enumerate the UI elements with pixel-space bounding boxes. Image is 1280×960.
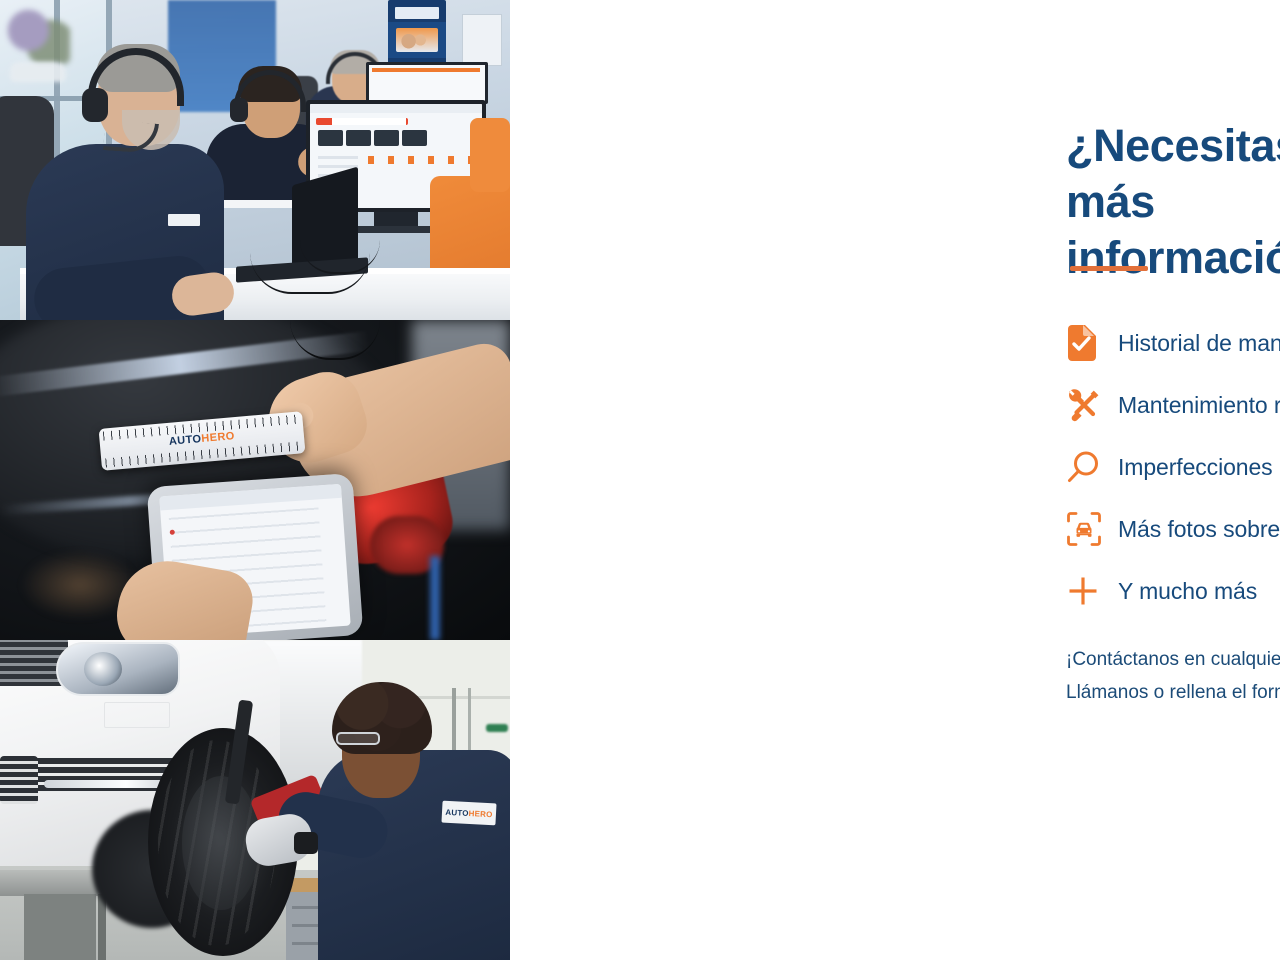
call-center-agents-photo — [0, 0, 510, 320]
orange-chair-back — [470, 118, 510, 192]
feature-item-much-more: Y mucho más — [1066, 560, 1280, 622]
polo-badge-hero: HERO — [468, 808, 492, 818]
tools-wrench-screwdriver-icon — [1066, 387, 1118, 423]
background-monitor — [366, 62, 488, 104]
workshop-tyre-change-photo: AUTOHERO — [0, 640, 510, 960]
wall-frame — [462, 14, 502, 66]
feature-item-maintenance-done: Mantenimiento realizado — [1066, 374, 1280, 436]
promo-page: AUTOHERO — [0, 0, 1280, 960]
background-pillar — [430, 556, 440, 640]
plus-icon — [1066, 574, 1118, 608]
contact-text: ¡Contáctanos en cualquier momento para m… — [1066, 644, 1280, 709]
fog-light-grille — [0, 756, 38, 804]
feature-item-imperfections: Imperfecciones — [1066, 436, 1280, 498]
autohero-polo-badge: AUTOHERO — [441, 801, 496, 826]
content-panel: ¿Necesitas más información? Historial de… — [510, 0, 1280, 960]
wall-poster-image — [388, 22, 446, 58]
polo-logo-patch — [168, 214, 200, 226]
agent-1 — [26, 36, 238, 320]
car-scan-photo-icon — [1066, 511, 1118, 547]
contact-line-2: Llámanos o rellena el formulario de cont… — [1066, 677, 1280, 710]
car-inspection-ruler-photo: AUTOHERO — [0, 320, 510, 640]
autohero-logo-hero: HERO — [201, 430, 235, 445]
lift-post — [24, 894, 96, 960]
title-underline-rule — [1070, 266, 1148, 271]
licence-plate-recess — [104, 702, 170, 728]
mechanic: AUTOHERO — [318, 680, 510, 960]
feature-label: Imperfecciones — [1118, 454, 1273, 481]
polo-badge-auto: AUTO — [445, 807, 469, 817]
document-check-icon — [1066, 325, 1118, 361]
magnifier-icon — [1066, 450, 1118, 484]
feature-label: Más fotos sobre el coche — [1118, 516, 1280, 543]
feature-label: Historial de mantenimientos — [1118, 330, 1280, 357]
feature-list: Historial de mantenimientos — [1066, 312, 1280, 622]
contact-line-1: ¡Contáctanos en cualquier momento para m… — [1066, 644, 1280, 677]
feature-item-more-photos: Más fotos sobre el coche — [1066, 498, 1280, 560]
photo-column: AUTOHERO — [0, 0, 510, 960]
car-headlight — [56, 642, 180, 696]
autohero-logo-auto: AUTO — [168, 433, 202, 448]
feature-label: Y mucho más — [1118, 578, 1257, 605]
feature-item-maintenance-history: Historial de mantenimientos — [1066, 312, 1280, 374]
page-title: ¿Necesitas más información? — [1066, 118, 1280, 285]
feature-label: Mantenimiento realizado — [1118, 392, 1280, 419]
